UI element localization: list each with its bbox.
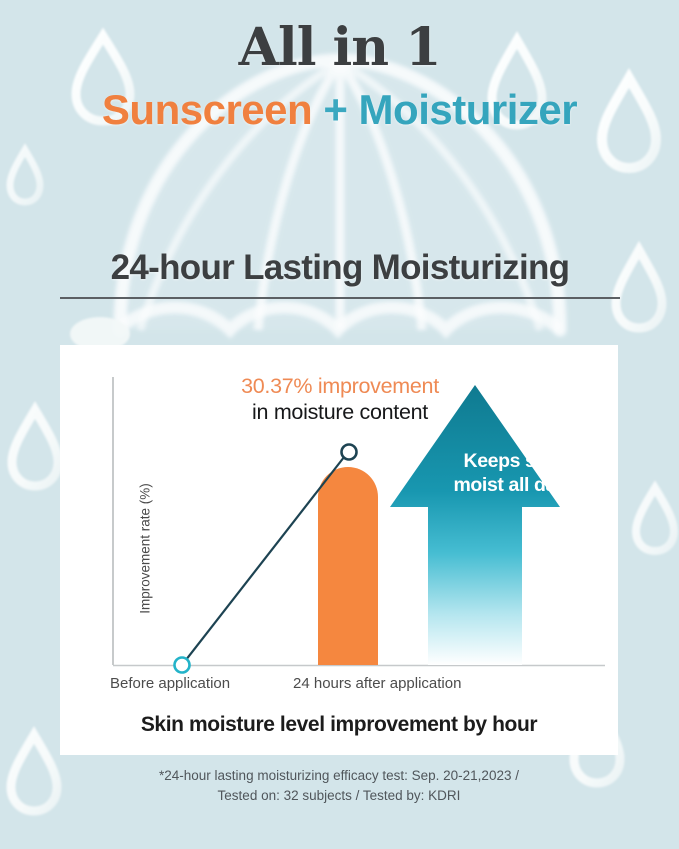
- marker-before-application: [175, 658, 190, 673]
- arrow-caption-line1: Keeps skin: [464, 450, 563, 472]
- chart-title: Skin moisture level improvement by hour: [60, 713, 618, 737]
- hero-space: [347, 86, 358, 133]
- subheading-text: 24-hour Lasting Moisturizing: [60, 248, 620, 288]
- footnote-line2: Tested on: 32 subjects / Tested by: KDRI: [60, 786, 618, 806]
- y-axis-label: Improvement rate (%): [138, 449, 153, 649]
- hero-subtitle: Sunscreen + Moisturizer: [0, 86, 679, 134]
- x-tick-24-hours-after: 24 hours after application: [293, 675, 461, 692]
- section-subheading: 24-hour Lasting Moisturizing: [60, 248, 620, 299]
- hero-plus-text: +: [323, 86, 347, 133]
- hero-header: All in 1 Sunscreen + Moisturizer: [0, 0, 679, 134]
- footnote-line1: *24-hour lasting moisturizing efficacy t…: [60, 766, 618, 786]
- marker-24-hours-after: [342, 445, 357, 460]
- arrow-caption: Keeps skin moist all day!: [418, 450, 608, 498]
- chart-annotation: 30.37% improvement in moisture content: [200, 373, 480, 425]
- footnote: *24-hour lasting moisturizing efficacy t…: [60, 766, 618, 807]
- hero-title-all-in-1: All in 1: [0, 22, 679, 74]
- hero-moisturizer-text: Moisturizer: [359, 86, 578, 133]
- arrow-caption-line2: moist all day!: [453, 474, 572, 496]
- trend-arrow: [390, 385, 560, 665]
- subheading-divider: [60, 297, 620, 299]
- x-tick-before-application: Before application: [110, 675, 230, 692]
- bar-24-hours: [318, 467, 378, 665]
- chart-card: Improvement rate (%) 30.37% improvement …: [60, 345, 618, 755]
- chart-area: Improvement rate (%) 30.37% improvement …: [60, 345, 618, 755]
- annotation-subtext: in moisture content: [200, 399, 480, 425]
- annotation-percent: 30.37% improvement: [200, 373, 480, 399]
- hero-plus-symbol: [312, 86, 323, 133]
- hero-sunscreen-text: Sunscreen: [102, 86, 312, 133]
